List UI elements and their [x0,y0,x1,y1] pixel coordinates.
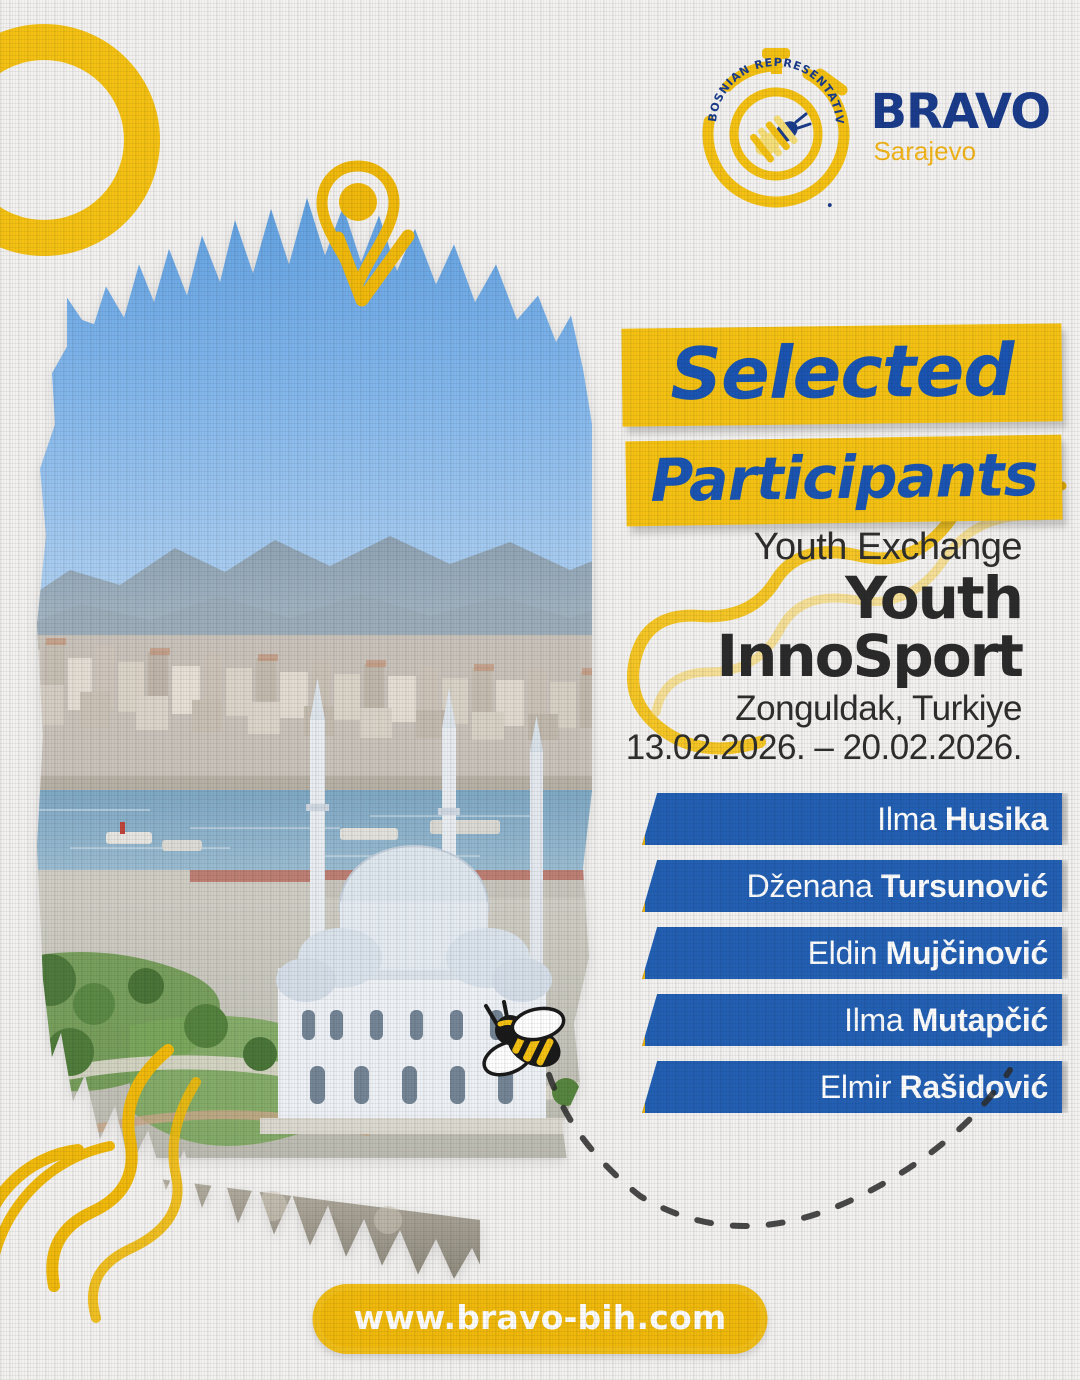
bravo-logo: BOSNIAN REPRESENTATIVE ASSOCIATION FOR V… [692,42,1050,210]
participant-row: EldinMujčinović [642,927,1062,979]
event-title-line2: InnoSport [602,628,1022,684]
participant-last-name: Rašidović [900,1069,1048,1106]
hero-photo [10,180,610,1290]
logo-city-name: Sarajevo [873,138,976,164]
event-kicker: Youth Exchange [602,528,1022,568]
participant-last-name: Mutapčić [912,1002,1048,1039]
participant-first-name: Ilma [877,801,936,838]
participant-name-bar: ElmirRašidović [642,1061,1062,1113]
headline-selected: Selected [621,323,1062,426]
headline-participants: Participants [625,435,1062,527]
participant-row: IlmaMutapčić [642,994,1062,1046]
participant-first-name: Ilma [844,1002,903,1039]
website-url-pill[interactable]: www.bravo-bih.com [313,1284,768,1354]
participant-name-bar: EldinMujčinović [642,927,1062,979]
participant-row: ElmirRašidović [642,1061,1062,1113]
participant-first-name: Eldin [808,935,878,972]
participants-list: IlmaHusikaDženanaTursunovićEldinMujčinov… [642,793,1062,1128]
poster-canvas: BOSNIAN REPRESENTATIVE ASSOCIATION FOR V… [0,0,1080,1380]
bee-icon [472,996,576,1093]
event-location: Zonguldak, Turkiye [602,690,1022,729]
logo-brand-name: BRAVO [870,88,1050,136]
participant-row: DženanaTursunović [642,860,1062,912]
map-pin-icon [316,158,400,299]
participant-last-name: Mujčinović [886,935,1048,972]
event-info: Youth Exchange Youth InnoSport Zonguldak… [602,528,1022,767]
event-dates: 13.02.2026. – 20.02.2026. [602,729,1022,768]
participant-first-name: Dženana [747,868,873,905]
zonguldak-photo-illustration [10,180,610,1290]
participant-first-name: Elmir [820,1069,891,1106]
headline-group: Selected Participants [622,326,1062,523]
stopwatch-icon: BOSNIAN REPRESENTATIVE ASSOCIATION FOR V… [692,42,860,210]
event-title-line1: Youth [602,570,1022,626]
participant-last-name: Tursunović [881,868,1048,905]
participant-name-bar: IlmaMutapčić [642,994,1062,1046]
participant-name-bar: IlmaHusika [642,793,1062,845]
participant-name-bar: DženanaTursunović [642,860,1062,912]
participant-last-name: Husika [945,801,1048,838]
participant-row: IlmaHusika [642,793,1062,845]
